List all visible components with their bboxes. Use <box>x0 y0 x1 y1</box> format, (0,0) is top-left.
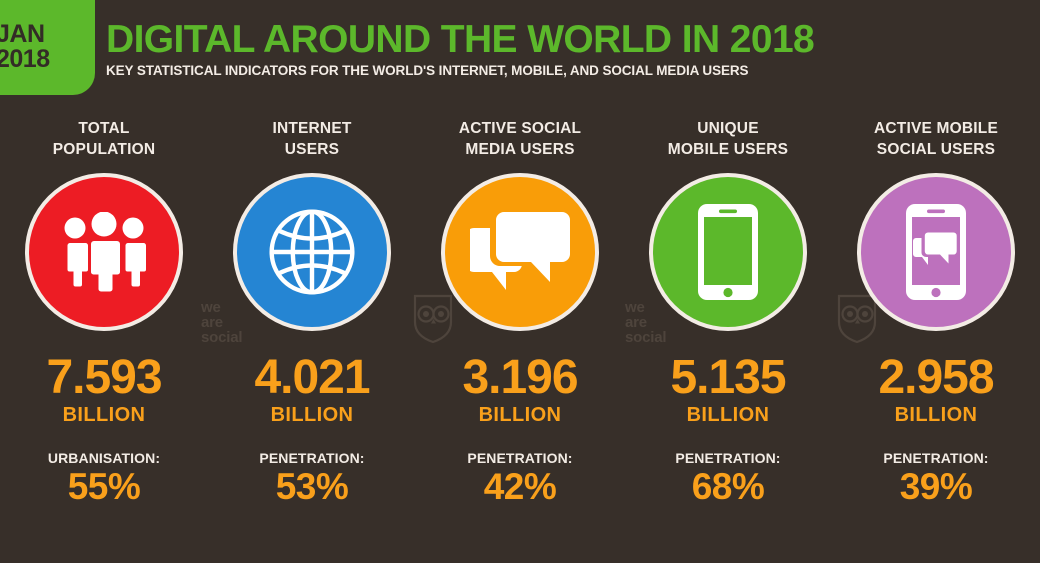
stat-unit: BILLION <box>271 404 354 426</box>
rate-value: 55% <box>68 467 141 507</box>
stat-value: 3.196 <box>462 353 577 403</box>
column-heading: TOTAL POPULATION <box>53 118 155 160</box>
rate-label: PENETRATION: <box>259 450 364 466</box>
icon-circle-blue <box>233 173 391 331</box>
rate-label: PENETRATION: <box>883 450 988 466</box>
column-heading-line1: ACTIVE MOBILE <box>874 118 998 139</box>
smartphone-chat-icon <box>904 202 968 302</box>
stat-unit: BILLION <box>687 404 770 426</box>
stat-value: 5.135 <box>670 353 785 403</box>
smartphone-icon <box>696 202 760 302</box>
stat-column-active-mobile-social-users: ACTIVE MOBILE SOCIAL USERS <box>832 118 1040 563</box>
column-heading-line1: INTERNET <box>272 118 351 139</box>
page-title: DIGITAL AROUND THE WORLD IN 2018 <box>106 20 814 60</box>
column-heading: ACTIVE MOBILE SOCIAL USERS <box>874 118 998 160</box>
column-heading-line2: USERS <box>272 139 351 160</box>
stat-column-unique-mobile-users: UNIQUE MOBILE USERS 5.135 BILLION PENETR… <box>624 118 832 563</box>
date-badge-month: JAN <box>0 22 95 47</box>
icon-circle-wrap <box>441 173 599 331</box>
icon-circle-purple <box>857 173 1015 331</box>
column-heading-line2: POPULATION <box>53 139 155 160</box>
people-group-icon <box>58 212 150 292</box>
rate-label: PENETRATION: <box>675 450 780 466</box>
speech-bubbles-icon <box>470 208 570 296</box>
stat-column-internet-users: INTERNET USERS <box>208 118 416 563</box>
globe-icon <box>264 204 360 300</box>
stat-value: 2.958 <box>878 353 993 403</box>
stats-columns: TOTAL POPULATION <box>0 118 1040 563</box>
header: JAN 2018 DIGITAL AROUND THE WORLD IN 201… <box>0 0 1040 100</box>
stat-value: 4.021 <box>254 353 369 403</box>
icon-circle-wrap <box>25 173 183 331</box>
stat-unit: BILLION <box>63 404 146 426</box>
stat-unit: BILLION <box>479 404 562 426</box>
rate-value: 42% <box>484 467 557 507</box>
column-heading-line1: TOTAL <box>53 118 155 139</box>
column-heading-line1: UNIQUE <box>668 118 788 139</box>
page-subtitle: KEY STATISTICAL INDICATORS FOR THE WORLD… <box>106 63 814 79</box>
stat-column-total-population: TOTAL POPULATION <box>0 118 208 563</box>
column-heading-line2: SOCIAL USERS <box>874 139 998 160</box>
rate-label: PENETRATION: <box>467 450 572 466</box>
icon-circle-wrap <box>233 173 391 331</box>
rate-value: 68% <box>692 467 765 507</box>
rate-label: URBANISATION: <box>48 450 160 466</box>
stat-column-active-social-media-users: ACTIVE SOCIAL MEDIA USERS 3.196 BILLION … <box>416 118 624 563</box>
column-heading: UNIQUE MOBILE USERS <box>668 118 788 160</box>
icon-circle-wrap <box>857 173 1015 331</box>
stat-value: 7.593 <box>46 353 161 403</box>
infographic-root: JAN 2018 DIGITAL AROUND THE WORLD IN 201… <box>0 0 1040 563</box>
icon-circle-orange <box>441 173 599 331</box>
icon-circle-green <box>649 173 807 331</box>
column-heading-line2: MEDIA USERS <box>459 139 581 160</box>
column-heading: INTERNET USERS <box>272 118 351 160</box>
column-heading-line2: MOBILE USERS <box>668 139 788 160</box>
rate-value: 53% <box>276 467 349 507</box>
stat-unit: BILLION <box>895 404 978 426</box>
date-badge-year: 2018 <box>0 47 95 72</box>
icon-circle-wrap <box>649 173 807 331</box>
title-block: DIGITAL AROUND THE WORLD IN 2018 KEY STA… <box>106 20 814 79</box>
column-heading: ACTIVE SOCIAL MEDIA USERS <box>459 118 581 160</box>
date-badge: JAN 2018 <box>0 0 95 95</box>
rate-value: 39% <box>900 467 973 507</box>
column-heading-line1: ACTIVE SOCIAL <box>459 118 581 139</box>
icon-circle-red <box>25 173 183 331</box>
